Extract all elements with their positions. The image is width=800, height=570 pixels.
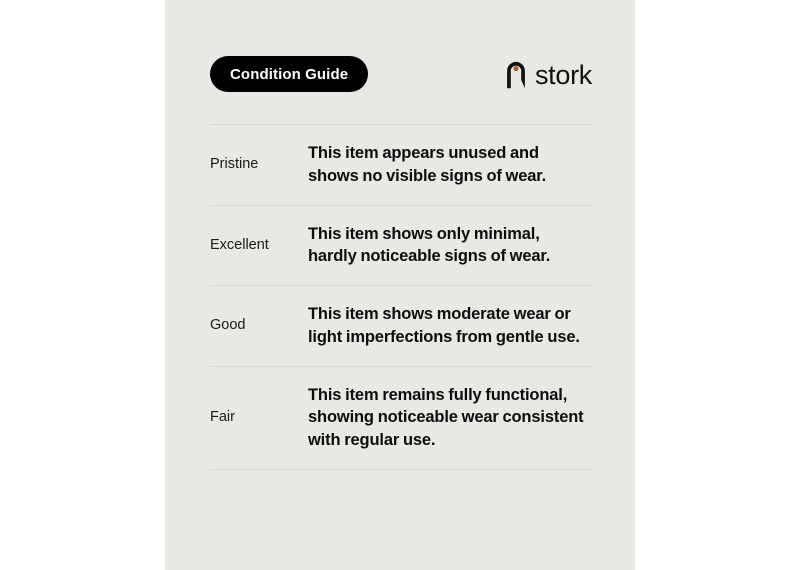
condition-description: This item appears unused and shows no vi… [308, 142, 592, 188]
condition-table: Pristine This item appears unused and sh… [210, 124, 592, 470]
condition-label: Pristine [210, 155, 308, 174]
condition-description: This item shows moderate wear or light i… [308, 303, 592, 349]
card-header: Condition Guide stork [210, 56, 592, 92]
condition-label: Good [210, 316, 308, 335]
stork-arch-icon [504, 59, 528, 89]
table-row: Fair This item remains fully functional,… [210, 367, 592, 469]
condition-label: Fair [210, 408, 308, 427]
page-root: Condition Guide stork Pristine This item… [0, 0, 800, 570]
table-row: Pristine This item appears unused and sh… [210, 125, 592, 205]
brand-wordmark: stork [535, 62, 592, 89]
table-row: Excellent This item shows only minimal, … [210, 206, 592, 286]
condition-description: This item shows only minimal, hardly not… [308, 223, 592, 269]
table-row: Good This item shows moderate wear or li… [210, 286, 592, 366]
row-divider [210, 469, 592, 470]
brand-lockup: stork [504, 57, 592, 91]
condition-guide-card: Condition Guide stork Pristine This item… [165, 0, 635, 570]
condition-description: This item remains fully functional, show… [308, 384, 592, 452]
condition-guide-badge: Condition Guide [210, 56, 368, 92]
condition-label: Excellent [210, 236, 308, 255]
